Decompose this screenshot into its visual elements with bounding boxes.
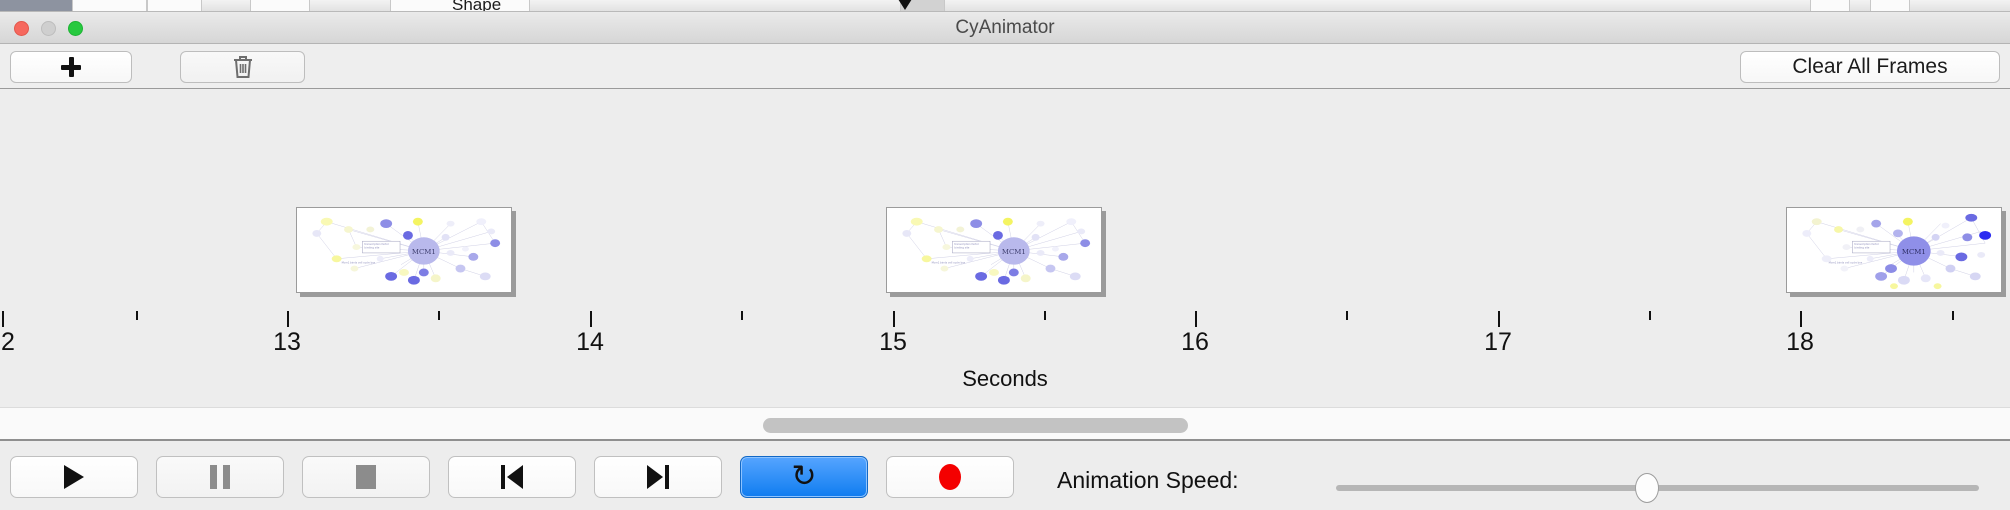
bg-tab-3 bbox=[250, 0, 310, 12]
axis-label: 18 bbox=[1786, 328, 1814, 357]
timeline-frame-thumbnail[interactable]: transcription factor binding site Mcm1 b… bbox=[296, 207, 512, 293]
svg-text:Mcm1 binds cell cycle box: Mcm1 binds cell cycle box bbox=[932, 261, 966, 265]
window-title: CyAnimator bbox=[0, 12, 2010, 44]
axis-tick-minor bbox=[741, 311, 743, 320]
pause-button[interactable] bbox=[156, 456, 284, 498]
axis-label: 15 bbox=[879, 328, 907, 357]
svg-text:MCM1: MCM1 bbox=[1902, 248, 1926, 256]
animation-speed-slider-knob[interactable] bbox=[1635, 473, 1659, 503]
axis-tick-major bbox=[2, 311, 4, 327]
bg-tab-1 bbox=[72, 0, 147, 12]
network-thumbnail-pale: transcription factor binding site Mcm1 b… bbox=[297, 208, 511, 292]
axis-tick-major bbox=[1195, 311, 1197, 327]
svg-text:MCM1: MCM1 bbox=[412, 248, 436, 256]
loop-toggle-button[interactable]: ↻ bbox=[740, 456, 868, 498]
axis-label: 13 bbox=[273, 328, 301, 357]
svg-text:binding site: binding site bbox=[1854, 246, 1869, 250]
axis-tick-minor bbox=[438, 311, 440, 320]
background-window-strip: Shape bbox=[0, 0, 2010, 12]
axis-tick-minor bbox=[1044, 311, 1046, 320]
timeline-panel[interactable]: transcription factor binding site Mcm1 b… bbox=[0, 89, 2010, 313]
skip-forward-icon bbox=[645, 465, 671, 489]
skip-back-icon bbox=[499, 465, 525, 489]
trash-icon bbox=[232, 54, 254, 80]
bg-tab-2 bbox=[147, 0, 202, 12]
stop-icon bbox=[356, 465, 376, 489]
bg-caret-icon bbox=[898, 0, 912, 10]
next-frame-button[interactable] bbox=[594, 456, 722, 498]
svg-text:transcription factor: transcription factor bbox=[364, 242, 390, 246]
bg-tab-active bbox=[0, 0, 72, 12]
axis-label: 2 bbox=[1, 328, 15, 357]
svg-text:binding site: binding site bbox=[364, 246, 379, 250]
network-thumbnail-saturated: transcription factor binding site Mcm1 b… bbox=[1787, 208, 2001, 292]
svg-text:MCM1: MCM1 bbox=[1002, 248, 1026, 256]
delete-frame-button[interactable] bbox=[180, 51, 305, 83]
svg-text:binding site: binding site bbox=[954, 246, 969, 250]
svg-text:Mcm1 binds cell cycle box: Mcm1 binds cell cycle box bbox=[342, 261, 376, 265]
axis-label: 14 bbox=[576, 328, 604, 357]
timeline-axis: 2 13 14 15 16 17 18 Seconds bbox=[0, 311, 2010, 407]
bg-tab-6 bbox=[1810, 0, 1850, 12]
record-button[interactable] bbox=[886, 456, 1014, 498]
axis-tick-minor bbox=[1952, 311, 1954, 320]
stop-button[interactable] bbox=[302, 456, 430, 498]
window-titlebar: CyAnimator bbox=[0, 12, 2010, 44]
loop-icon: ↻ bbox=[791, 462, 816, 492]
svg-text:Mcm1 binds cell cycle box: Mcm1 binds cell cycle box bbox=[1829, 261, 1863, 265]
axis-title: Seconds bbox=[0, 366, 2010, 392]
toolbar: Clear All Frames bbox=[0, 44, 2010, 89]
timeline-frame-thumbnail[interactable]: transcription factor binding site Mcm1 b… bbox=[886, 207, 1102, 293]
axis-tick-major bbox=[590, 311, 592, 327]
background-window-label: Shape bbox=[452, 0, 501, 12]
axis-tick-major bbox=[1800, 311, 1802, 327]
svg-text:transcription factor: transcription factor bbox=[954, 242, 980, 246]
timeline-scrollbar-thumb[interactable] bbox=[763, 418, 1188, 433]
axis-tick-minor bbox=[136, 311, 138, 320]
add-frame-button[interactable] bbox=[10, 51, 132, 83]
play-button[interactable] bbox=[10, 456, 138, 498]
axis-tick-major bbox=[893, 311, 895, 327]
svg-text:transcription factor: transcription factor bbox=[1854, 242, 1880, 246]
network-thumbnail-pale: transcription factor binding site Mcm1 b… bbox=[887, 208, 1101, 292]
timeline-frame-thumbnail[interactable]: transcription factor binding site Mcm1 b… bbox=[1786, 207, 2002, 293]
clear-all-frames-button[interactable]: Clear All Frames bbox=[1740, 51, 2000, 83]
plus-icon bbox=[61, 57, 81, 77]
previous-frame-button[interactable] bbox=[448, 456, 576, 498]
axis-tick-major bbox=[287, 311, 289, 327]
axis-tick-minor bbox=[1649, 311, 1651, 320]
playback-control-bar: ↻ Animation Speed: bbox=[0, 441, 2010, 510]
axis-label: 16 bbox=[1181, 328, 1209, 357]
record-icon bbox=[939, 464, 961, 490]
axis-tick-major bbox=[1498, 311, 1500, 327]
axis-tick-minor bbox=[1346, 311, 1348, 320]
play-icon bbox=[64, 465, 84, 489]
timeline-scrollbar-track[interactable] bbox=[0, 407, 2010, 441]
animation-speed-label: Animation Speed: bbox=[1057, 467, 1239, 494]
bg-tab-7 bbox=[1870, 0, 1910, 12]
axis-label: 17 bbox=[1484, 328, 1512, 357]
pause-icon bbox=[210, 465, 230, 489]
